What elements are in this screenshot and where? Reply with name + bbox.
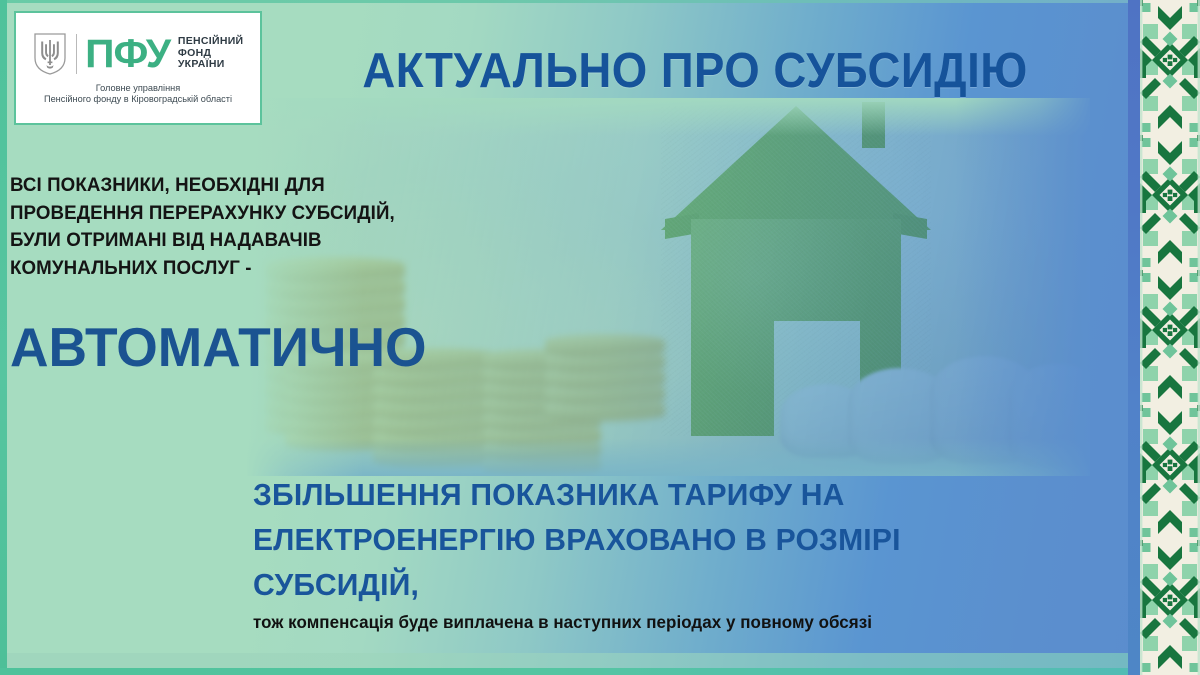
intro-text-block: ВСІ ПОКАЗНИКИ, НЕОБХІДНІ ДЛЯ ПРОВЕДЕННЯ … [10,172,440,282]
background-photo [245,98,1090,476]
logo-subtitle: Головне управління Пенсійного фонду в Кі… [44,83,232,106]
bottom-edge-strip [0,668,1200,675]
logo-subtitle-line-2: Пенсійного фонду в Кіровоградській облас… [44,94,232,106]
conclusion-line-2: ЕЛЕКТРОЕНЕРГІЮ ВРАХОВАНО В РОЗМІРІ [253,517,1039,562]
intro-line-1: ВСІ ПОКАЗНИКИ, НЕОБХІДНІ ДЛЯ [10,172,423,200]
top-edge-strip [0,0,1200,3]
conclusion-text-block: ЗБІЛЬШЕННЯ ПОКАЗНИКА ТАРИФУ НА ЕЛЕКТРОЕН… [253,472,1063,633]
pfu-abbreviation: ПФУ [85,34,170,74]
photo-edge-fade [245,98,1090,476]
intro-line-2: ПРОВЕДЕННЯ ПЕРЕРАХУНКУ СУБСИДІЙ, [10,200,423,228]
left-edge-strip [0,0,7,675]
conclusion-note: тож компенсація буде виплачена в наступн… [253,611,1039,633]
logo-top-row: ПФУ ПЕНСІЙНИЙ ФОНД УКРАЇНИ [33,32,244,76]
page-title: АКТУАЛЬНО ПРО СУБСИДІЮ [328,42,1063,100]
logo-divider [76,34,77,74]
pfu-name-line-3: УКРАЇНИ [178,59,244,71]
poster-canvas: ПФУ ПЕНСІЙНИЙ ФОНД УКРАЇНИ Головне управ… [0,0,1200,675]
vyshyvanka-pattern-svg [1140,0,1200,675]
conclusion-line-3: СУБСИДІЙ, [253,562,1039,607]
pfu-full-name: ПЕНСІЙНИЙ ФОНД УКРАЇНИ [178,36,244,71]
vyshyvanka-ornament-border [1140,0,1200,675]
emphasis-word: АВТОМАТИЧНО [10,316,427,378]
logo-subtitle-line-1: Головне управління [44,83,232,95]
ornament-blue-gap [1128,0,1140,675]
ukraine-trident-emblem-icon [33,32,67,76]
intro-line-3: БУЛИ ОТРИМАНІ ВІД НАДАВАЧІВ [10,227,423,255]
conclusion-line-1: ЗБІЛЬШЕННЯ ПОКАЗНИКА ТАРИФУ НА [253,472,1039,517]
intro-line-4: КОМУНАЛЬНИХ ПОСЛУГ - [10,255,423,283]
pfu-logo-card: ПФУ ПЕНСІЙНИЙ ФОНД УКРАЇНИ Головне управ… [14,11,262,125]
